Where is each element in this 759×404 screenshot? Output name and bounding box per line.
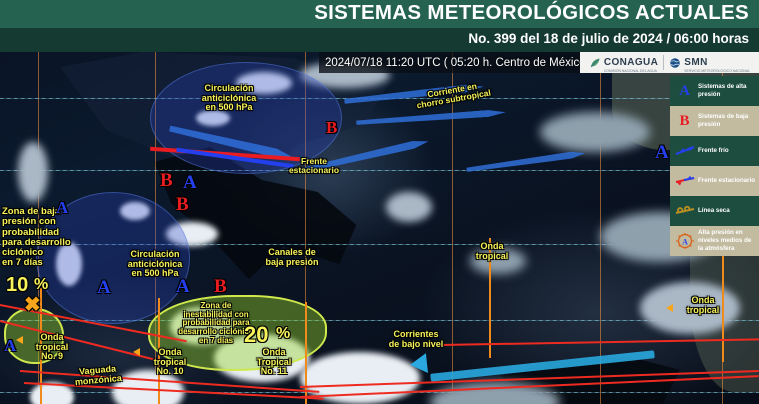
weather-bulletin-screenshot: B A B A A A B B A A Circulación anticicl… xyxy=(0,0,759,404)
legend-panel: A Sistemas de alta presión B Sistemas de… xyxy=(670,76,759,256)
stationary-front-icon xyxy=(673,175,696,187)
dry-line-icon xyxy=(673,205,696,217)
legend-item-dry-line[interactable]: Línea seca xyxy=(670,196,759,226)
cloud xyxy=(386,192,432,222)
timestamp-text: 2024/07/18 11:20 UTC ( 05:20 h. Centro d… xyxy=(319,57,593,69)
page-title: SISTEMAS METEOROLÓGICOS ACTUALES xyxy=(0,1,759,25)
annotation-low-level-currents: Corrientes de bajo nivel xyxy=(374,330,458,349)
legend-item-high-pressure[interactable]: A Sistemas de alta presión xyxy=(670,76,759,106)
legend-label: Frente estacionario xyxy=(696,177,755,185)
high-pressure-symbol: A xyxy=(183,172,197,194)
legend-label: Sistemas de baja presión xyxy=(696,113,757,129)
conagua-logo-text: CONAGUA xyxy=(604,57,658,68)
cold-front-icon xyxy=(673,145,696,157)
legend-label: Frente frío xyxy=(696,147,729,155)
annotation-tropical-wave-10: Onda tropical No. 10 xyxy=(144,348,196,377)
annotation-subtropical-jet: Corriente en chorro subtropical xyxy=(397,77,509,114)
conagua-leaf-icon xyxy=(589,57,601,69)
grid-parallel xyxy=(0,170,759,171)
logo-bar: CONAGUA COMISIÓN NACIONAL DEL AGUA SMN S… xyxy=(580,52,759,73)
annotation-tropical-wave-caribbean: Onda tropical xyxy=(464,242,520,261)
high-pressure-symbol: A xyxy=(655,142,669,164)
satellite-map: B A B A A A B B A A Circulación anticicl… xyxy=(0,52,759,404)
annotation-tropical-wave-atlantic: Onda tropical xyxy=(676,296,730,315)
cloud xyxy=(18,142,48,202)
grid-meridian xyxy=(600,52,601,404)
low-level-current-arrowhead xyxy=(409,353,428,375)
legend-label: Alta presión en niveles medios de la atm… xyxy=(696,229,757,252)
grid-meridian xyxy=(452,52,453,404)
high-pressure-symbol: A xyxy=(97,277,111,299)
low-pressure-symbol: B xyxy=(176,194,189,216)
legend-glyph-A: A xyxy=(679,83,690,100)
legend-label: Sistemas de alta presión xyxy=(696,83,757,99)
subtropical-jet-stream xyxy=(356,109,506,126)
pointer-arrow-icon xyxy=(666,304,673,312)
bulletin-number: No. 399 del 18 de julio de 2024 / 06:00 … xyxy=(0,31,759,46)
legend-item-cold-front[interactable]: Frente frío xyxy=(670,136,759,166)
smn-logo: SMN SERVICIO METEOROLÓGICO NACIONAL xyxy=(664,52,755,74)
x-mark-icon: ✖ xyxy=(24,292,41,317)
smn-logo-text: SMN xyxy=(684,57,707,68)
high-pressure-symbol: A xyxy=(176,276,190,298)
annotation-stationary-front: Frente estacionario xyxy=(272,157,356,175)
cloud xyxy=(540,112,650,152)
high-pressure-symbol: A xyxy=(56,198,68,218)
low-pressure-symbol: B xyxy=(160,170,173,192)
probability-20-unit: % xyxy=(276,325,290,343)
annotation-tropical-wave-9: Onda tropical No. 9 xyxy=(26,333,78,362)
tropical-wave-axis-11 xyxy=(305,302,307,404)
svg-text:A: A xyxy=(682,238,688,247)
annotation-tropical-wave-11: Onda Tropical No. 11 xyxy=(246,348,302,377)
conagua-logo-caption: COMISIÓN NACIONAL DEL AGUA xyxy=(604,70,658,74)
annotation-low-pressure-channels: Canales de baja presión xyxy=(246,248,338,267)
legend-item-low-pressure[interactable]: B Sistemas de baja presión xyxy=(670,106,759,136)
conagua-logo: CONAGUA COMISIÓN NACIONAL DEL AGUA xyxy=(584,52,663,74)
smn-globe-icon xyxy=(669,57,681,69)
legend-glyph-B: B xyxy=(679,113,689,130)
annotation-anticyclone-pacific: Circulación anticiclónica en 500 hPa xyxy=(102,250,208,279)
low-pressure-symbol: B xyxy=(326,118,337,138)
mid-level-high-icon: A xyxy=(673,232,696,250)
high-pressure-symbol: A xyxy=(4,336,16,356)
probability-20-value: 20 xyxy=(244,322,268,348)
legend-label: Línea seca xyxy=(696,207,730,215)
letter-A-icon: A xyxy=(673,83,696,100)
letter-B-icon: B xyxy=(673,113,696,130)
pointer-arrow-icon xyxy=(133,348,140,356)
pointer-arrow-icon xyxy=(16,336,23,344)
low-pressure-symbol: B xyxy=(214,276,227,298)
annotation-low-pressure-zone: Zona de baja presión con probabilidad pa… xyxy=(2,207,86,269)
legend-item-mid-level-high[interactable]: A Alta presión en niveles medios de la a… xyxy=(670,226,759,256)
smn-logo-caption: SERVICIO METEOROLÓGICO NACIONAL xyxy=(684,70,750,74)
annotation-anticyclone-north: Circulación anticiclónica en 500 hPa xyxy=(176,84,282,113)
legend-item-stationary-front[interactable]: Frente estacionario xyxy=(670,166,759,196)
